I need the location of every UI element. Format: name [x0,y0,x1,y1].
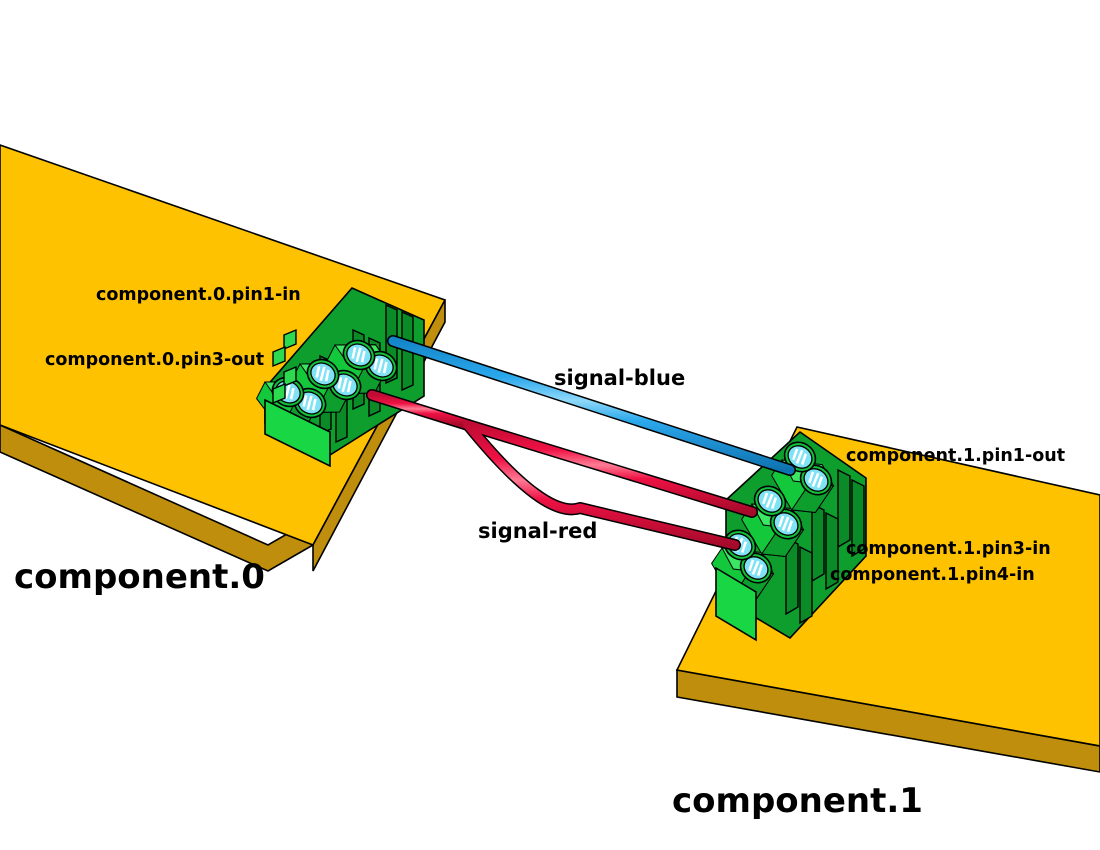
wiring-diagram-svg: component.0.pin1-in component.0.pin3-out… [0,0,1100,850]
diagram-canvas: component.0.pin1-in component.0.pin3-out… [0,0,1100,850]
signal-label-blue: signal-blue [554,366,685,390]
pin-label-component-1-pin3-in: component.1.pin3-in [846,539,1051,559]
component-label-0: component.0 [14,557,265,597]
component-label-1: component.1 [672,781,923,821]
pin-label-component-1-pin1-out: component.1.pin1-out [846,446,1065,466]
pin-label-component-1-pin4-in: component.1.pin4-in [830,565,1035,585]
signal-label-red: signal-red [478,519,597,543]
pin-label-component-0-pin3-out: component.0.pin3-out [45,350,264,370]
pin-label-component-0-pin1-in: component.0.pin1-in [96,285,301,305]
wire-signal-blue[interactable] [393,341,790,470]
